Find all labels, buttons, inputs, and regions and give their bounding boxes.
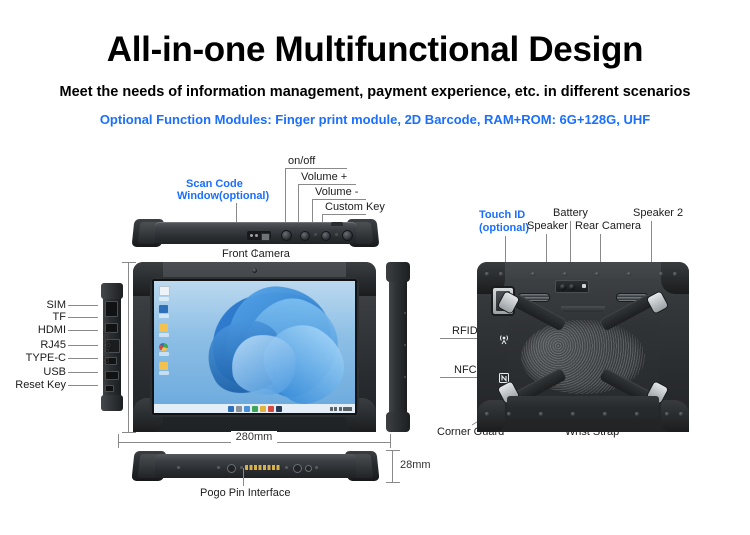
- leader-port-reset-key: [68, 385, 98, 386]
- label-port-hdmi: HDMI: [12, 324, 66, 337]
- scan-code-window: [247, 231, 271, 240]
- pogo-pin-interface: [245, 465, 281, 470]
- bottom-edge-port-2: [293, 464, 302, 473]
- back-corner-guard-tr: [661, 262, 689, 294]
- label-volume-down: Volume -: [315, 186, 358, 199]
- label-speaker: Speaker: [527, 220, 568, 233]
- label-port-reset-key: Reset Key: [0, 379, 66, 392]
- taskbar-icons[interactable]: [228, 406, 282, 412]
- label-nfc: NFC: [454, 364, 477, 377]
- label-rfid: RFID: [452, 325, 478, 338]
- desktop-icon-folder[interactable]: [159, 324, 169, 337]
- desktop-icon-browser[interactable]: [159, 343, 169, 356]
- dimension-tick-width-left: [118, 434, 119, 448]
- label-rear-camera: Rear Camera: [575, 220, 641, 233]
- bottom-edge-view: [133, 450, 378, 482]
- back-corner-guard-br: [661, 400, 689, 432]
- right-edge-cap-bottom: [386, 412, 410, 432]
- rfid-icon: [498, 332, 510, 344]
- left-edge-cap-bottom: [101, 395, 123, 411]
- page-title: All-in-one Multifunctional Design: [0, 30, 750, 70]
- right-edge-dot-3: [404, 376, 406, 378]
- dimension-tick-width-right: [390, 434, 391, 448]
- leader-port-type-c: [68, 358, 98, 359]
- label-touch-id-line2: (optional): [479, 222, 529, 235]
- leader-port-tf: [68, 317, 98, 318]
- taskbar-system-tray[interactable]: [330, 407, 353, 411]
- leader-port-usb: [68, 372, 98, 373]
- power-button[interactable]: [281, 230, 292, 241]
- port-sim-tf: [105, 301, 118, 317]
- volume-down-button[interactable]: [321, 231, 331, 241]
- label-front-camera: Front Camera: [222, 248, 290, 261]
- tablet-screen[interactable]: [154, 281, 355, 413]
- label-custom-key: Custom Key: [325, 201, 385, 214]
- dimension-label-height: 198mm: [100, 330, 112, 367]
- dimension-label-width: 280mm: [231, 431, 277, 443]
- taskbar-widgets-icon: [244, 406, 250, 412]
- label-speaker-2: Speaker 2: [633, 207, 683, 220]
- product-diagram-page: All-in-one Multifunctional Design Meet t…: [0, 0, 750, 535]
- right-edge-cap-top: [386, 262, 410, 282]
- front-view-tablet: [133, 262, 376, 432]
- dimension-tick-height-bottom: [122, 432, 136, 433]
- custom-key-button[interactable]: [342, 230, 353, 241]
- page-subtitle: Meet the needs of information management…: [0, 84, 750, 100]
- optional-modules-line: Optional Function Modules: Finger print …: [0, 112, 750, 127]
- label-port-usb: USB: [18, 366, 66, 379]
- right-edge-body: [389, 276, 407, 418]
- leader-volume-up-h: [298, 184, 356, 185]
- leader-port-rj45: [68, 345, 98, 346]
- port-reset-key: [105, 385, 114, 392]
- dimension-tick-thickness-top: [386, 450, 400, 451]
- battery-latch-handle: [561, 306, 605, 312]
- top-edge-view: [133, 218, 378, 248]
- dimension-label-thickness: 28mm: [400, 459, 431, 471]
- dimension-line-thickness: [392, 450, 393, 482]
- dimension-line-height: [128, 262, 129, 432]
- top-edge-nub: [331, 222, 343, 226]
- taskbar[interactable]: [154, 404, 355, 413]
- label-port-type-c: TYPE-C: [6, 352, 66, 365]
- back-screw-row-bottom: [485, 412, 681, 416]
- front-camera-lens: [252, 268, 257, 273]
- label-port-rj45: RJ45: [16, 339, 66, 352]
- left-edge-cap-top: [101, 283, 123, 299]
- back-screw-row-top: [485, 272, 681, 276]
- mic-hole-2: [335, 233, 338, 236]
- bottom-edge-body: [155, 454, 356, 478]
- top-edge-body: [155, 222, 356, 244]
- label-scan-code-window-line1: Scan Code: [186, 178, 243, 191]
- taskbar-terminal-icon: [276, 406, 282, 412]
- leader-port-hdmi: [68, 330, 98, 331]
- leader-custom-key-h: [322, 214, 366, 215]
- back-view-tablet: [477, 262, 689, 432]
- taskbar-app-icon: [268, 406, 274, 412]
- leader-volume-down-h: [312, 199, 366, 200]
- back-bottom-panel: [507, 396, 659, 408]
- mic-hole: [314, 233, 317, 236]
- desktop-icon-document[interactable]: [159, 286, 169, 301]
- right-edge-dot-1: [404, 312, 406, 314]
- taskbar-search-icon: [236, 406, 242, 412]
- dimension-tick-thickness-bottom: [386, 482, 400, 483]
- desktop-icon-folder-2[interactable]: [159, 362, 169, 375]
- label-port-tf: TF: [20, 311, 66, 324]
- label-volume-up: Volume +: [301, 171, 347, 184]
- right-edge-view: [385, 262, 411, 432]
- leader-pogo-pin: [243, 468, 244, 486]
- right-edge-dot-2: [404, 344, 406, 346]
- back-corner-guard-bl: [477, 400, 505, 432]
- screen-bezel: [150, 277, 359, 417]
- rear-camera-module: [555, 280, 589, 293]
- leader-port-sim: [68, 305, 98, 306]
- volume-up-button[interactable]: [300, 231, 310, 241]
- label-on-off: on/off: [288, 155, 315, 168]
- label-touch-id-line1: Touch ID: [479, 209, 525, 222]
- taskbar-folder-icon: [260, 406, 266, 412]
- port-usb: [105, 371, 119, 380]
- taskbar-start-icon: [228, 406, 234, 412]
- nfc-icon: [498, 371, 510, 383]
- label-battery: Battery: [553, 207, 588, 220]
- label-port-sim: SIM: [20, 299, 66, 312]
- label-pogo-pin-interface: Pogo Pin Interface: [200, 487, 291, 500]
- desktop-icon-computer[interactable]: [159, 305, 169, 318]
- bottom-edge-port-1: [227, 464, 236, 473]
- leader-on-off-h: [285, 168, 347, 169]
- bottom-edge-port-3: [305, 465, 312, 472]
- taskbar-explorer-icon: [252, 406, 258, 412]
- label-scan-code-window-line2: Window(optional): [177, 190, 269, 203]
- wallpaper-bloom: [202, 283, 352, 408]
